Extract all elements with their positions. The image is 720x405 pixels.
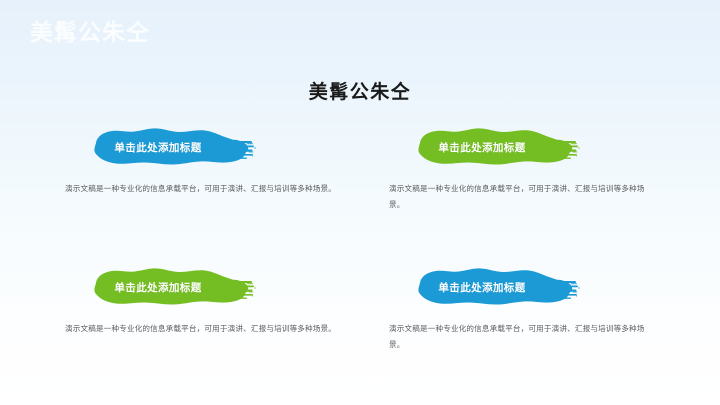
banner-label: 单击此处添加标题 — [82, 266, 234, 308]
block-body-text: 演示文稿是一种专业化的信息承载平台，可用于演讲、汇报与培训等多种场景。 — [389, 321, 647, 352]
block-body-text: 演示文稿是一种专业化的信息承载平台，可用于演讲、汇报与培训等多种场景。 — [65, 181, 337, 197]
brush-banner-bottom-left[interactable]: 单击此处添加标题 — [82, 266, 257, 308]
content-block-top-right[interactable]: 单击此处添加标题 演示文稿是一种专业化的信息承载平台，可用于演讲、汇报与培训等多… — [386, 126, 658, 212]
banner-label: 单击此处添加标题 — [406, 266, 558, 308]
block-body-text: 演示文稿是一种专业化的信息承载平台，可用于演讲、汇报与培训等多种场景。 — [65, 321, 337, 337]
banner-label: 单击此处添加标题 — [82, 126, 234, 168]
presentation-slide: 美髯公朱仝 美髯公朱仝 — [0, 0, 720, 405]
brush-banner-top-left[interactable]: 单击此处添加标题 — [82, 126, 257, 168]
watermark-title: 美髯公朱仝 — [30, 21, 150, 44]
page-title: 美髯公朱仝 — [0, 82, 720, 105]
block-body-text: 演示文稿是一种专业化的信息承载平台，可用于演讲、汇报与培训等多种场景。 — [389, 181, 647, 212]
brush-banner-bottom-right[interactable]: 单击此处添加标题 — [406, 266, 581, 308]
banner-label: 单击此处添加标题 — [406, 126, 558, 168]
content-grid: 单击此处添加标题 演示文稿是一种专业化的信息承载平台，可用于演讲、汇报与培训等多… — [62, 126, 658, 358]
brush-banner-top-right[interactable]: 单击此处添加标题 — [406, 126, 581, 168]
content-block-bottom-left[interactable]: 单击此处添加标题 演示文稿是一种专业化的信息承载平台，可用于演讲、汇报与培训等多… — [62, 266, 334, 337]
content-block-bottom-right[interactable]: 单击此处添加标题 演示文稿是一种专业化的信息承载平台，可用于演讲、汇报与培训等多… — [386, 266, 658, 352]
content-block-top-left[interactable]: 单击此处添加标题 演示文稿是一种专业化的信息承载平台，可用于演讲、汇报与培训等多… — [62, 126, 334, 197]
